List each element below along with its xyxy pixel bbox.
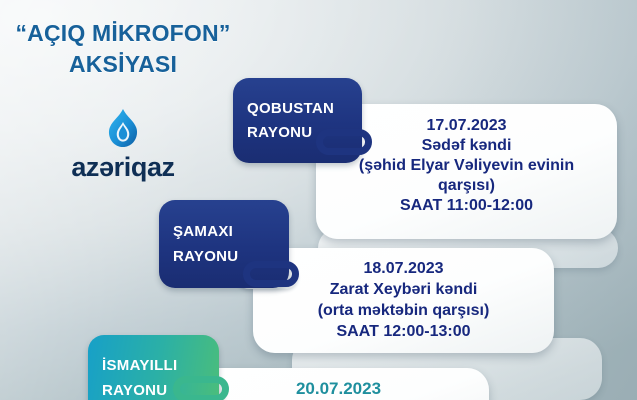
connector-hook — [316, 129, 372, 155]
event-date: 20.07.2023 — [188, 378, 489, 400]
headline-line-1: “AÇIQ MİKROFON” — [15, 20, 230, 46]
headline-line-2: AKSİYASI — [0, 49, 246, 80]
event-note: (orta məktəbin qarşısı) — [253, 300, 554, 321]
flame-icon — [106, 108, 140, 148]
district-line-1: İSMAYILLI — [102, 353, 219, 378]
event-note-2: qarşısı) — [316, 176, 617, 196]
event-venue: Zarat Xeybəri kəndi — [253, 279, 554, 300]
poster-canvas: “AÇIQ MİKROFON” AKSİYASI azəriqaz 17.07.… — [0, 0, 637, 400]
logo-wordmark: azəriqaz — [0, 152, 246, 182]
district-line-1: QOBUSTAN — [247, 97, 362, 121]
event-card: 20.07.2023 — [188, 368, 489, 400]
page-title: “AÇIQ MİKROFON” AKSİYASI — [0, 18, 246, 80]
event-note: (şəhid Elyar Vəliyevin evinin — [316, 156, 617, 176]
event-card: 18.07.2023 Zarat Xeybəri kəndi (orta mək… — [253, 248, 554, 353]
event-time: SAAT 11:00-12:00 — [316, 196, 617, 216]
azeriqaz-logo: azəriqaz — [0, 108, 246, 182]
district-line-1: ŞAMAXI — [173, 219, 289, 244]
connector-hook — [243, 261, 299, 287]
connector-hook — [173, 376, 229, 400]
event-time: SAAT 12:00-13:00 — [253, 321, 554, 342]
